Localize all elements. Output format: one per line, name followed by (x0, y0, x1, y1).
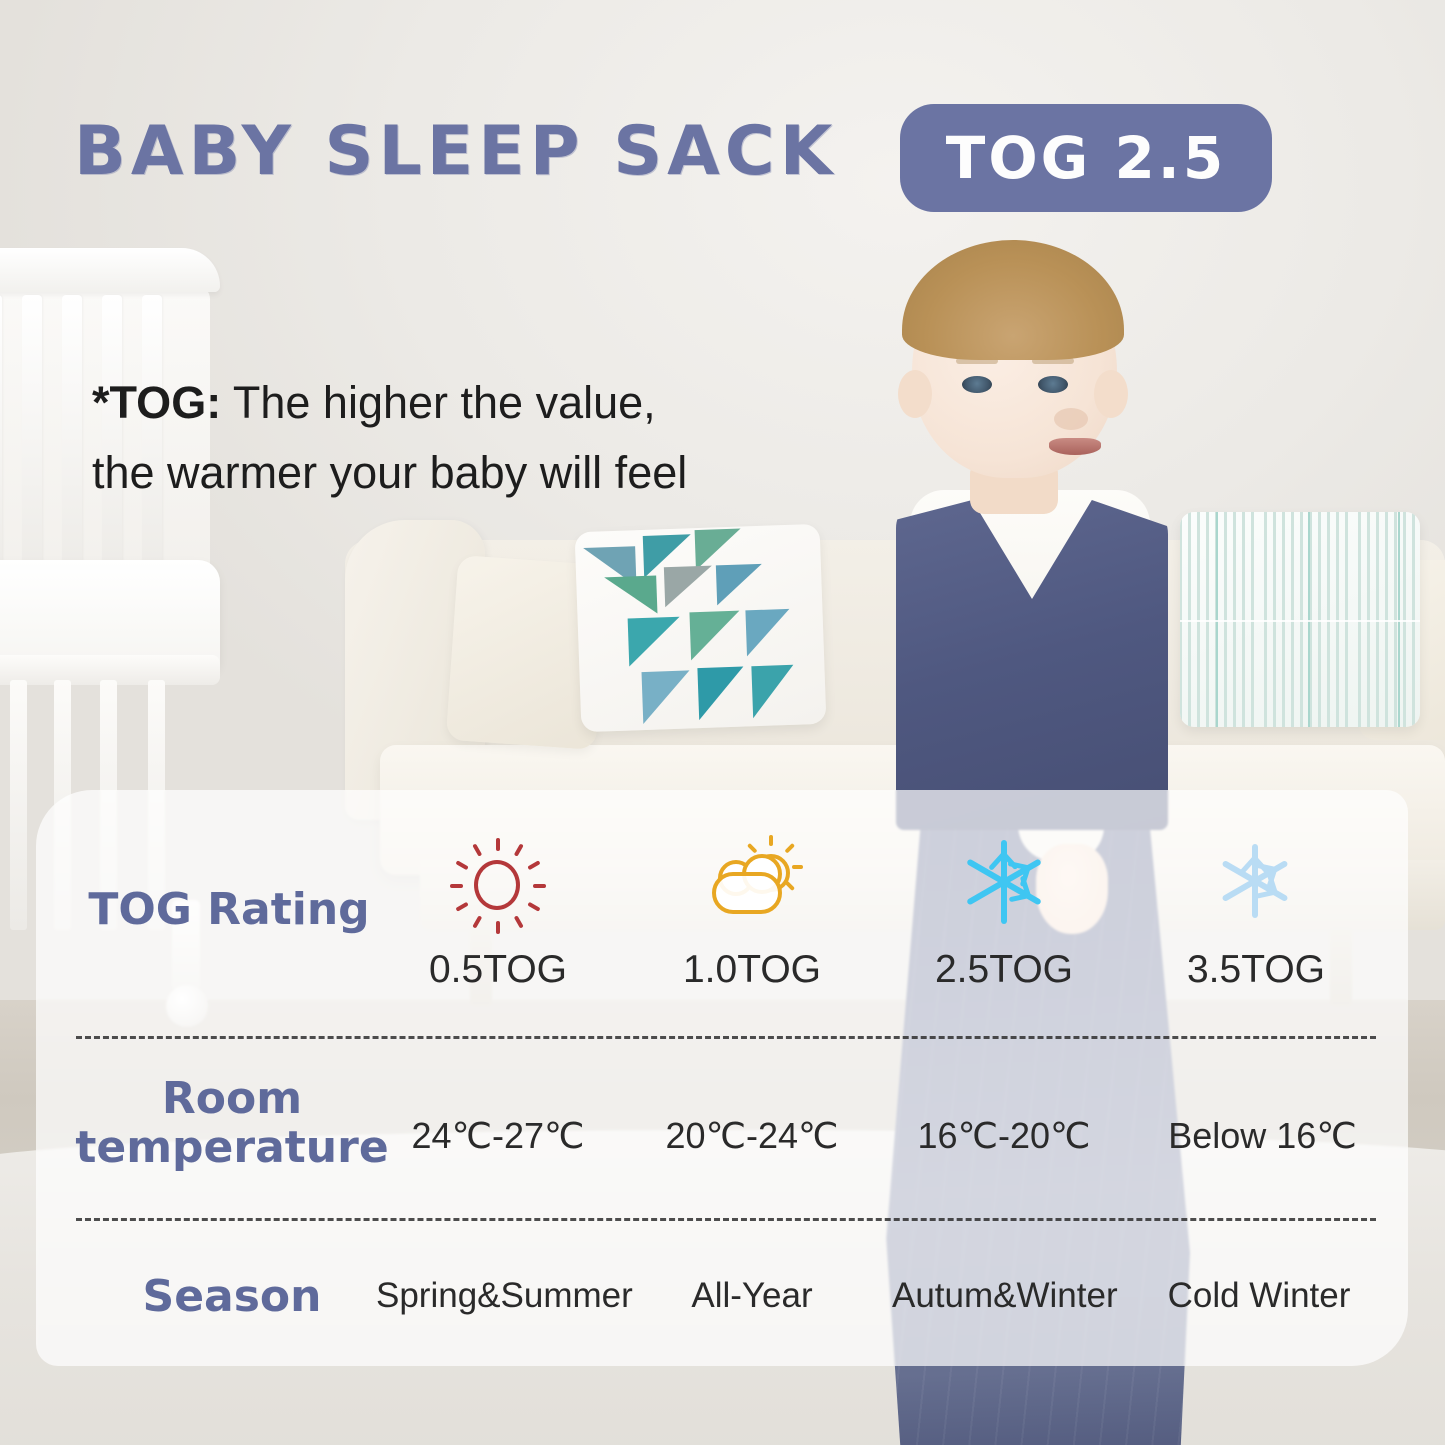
crib-top-rail (0, 248, 220, 292)
crib-lower-slat (10, 680, 27, 930)
cell-season-0: Spring&Summer (376, 1276, 624, 1316)
snowflake-icon (956, 834, 1052, 930)
tog-badge-label: TOG 2.5 (946, 124, 1226, 192)
eye-right (1038, 376, 1068, 393)
crib-slat (0, 295, 2, 575)
ear-right (1094, 370, 1128, 418)
cell-temperature-2: 16℃-20℃ (908, 1115, 1100, 1157)
cell-tog-3: 3.5TOG (1160, 948, 1352, 992)
header: BABY SLEEP SACK TOG 2.5 (0, 0, 1445, 250)
tog-explanation-line2: the warmer your baby will feel (92, 447, 687, 498)
row-divider-2 (76, 1218, 1376, 1221)
crib-slat (62, 295, 82, 575)
cell-tog-1: 1.0TOG (656, 948, 848, 992)
tog-explanation-line1: The higher the value, (221, 377, 655, 428)
eye-left (962, 376, 992, 393)
cell-temperature-3: Below 16℃ (1160, 1115, 1365, 1157)
cell-tog-0: 0.5TOG (402, 948, 594, 992)
row-divider-1 (76, 1036, 1376, 1039)
row-label-season: Season (64, 1272, 400, 1321)
sun-behind-cloud-icon (704, 838, 800, 934)
tog-explanation-label: *TOG: (92, 377, 221, 428)
mouth (1049, 438, 1101, 455)
crib-mattress (0, 560, 220, 670)
cell-temperature-0: 24℃-27℃ (402, 1115, 594, 1157)
row-label-tog-rating: TOG Rating (64, 885, 394, 934)
cell-season-3: Cold Winter (1150, 1276, 1368, 1316)
cell-tog-2: 2.5TOG (908, 948, 1100, 992)
nose (1054, 408, 1088, 430)
cell-season-1: All-Year (656, 1276, 848, 1316)
infographic-canvas: BABY SLEEP SACK TOG 2.5 *TOG: The higher… (0, 0, 1445, 1445)
hair (902, 240, 1124, 360)
snowflake-light-icon (1208, 836, 1304, 932)
tog-explanation: *TOG: The higher the value, the warmer y… (92, 368, 852, 508)
cell-temperature-1: 20℃-24℃ (656, 1115, 848, 1157)
ear-left (898, 370, 932, 418)
tog-badge: TOG 2.5 (900, 104, 1272, 212)
crib-slat (22, 295, 42, 575)
tog-comparison-table: TOG Rating (36, 790, 1408, 1366)
triangle-pattern-pillow (575, 524, 827, 732)
page-title: BABY SLEEP SACK (74, 112, 837, 191)
cell-season-2: Autum&Winter (892, 1276, 1116, 1316)
row-label-room-temperature: Room temperature (64, 1074, 400, 1173)
sun-icon (450, 838, 546, 934)
